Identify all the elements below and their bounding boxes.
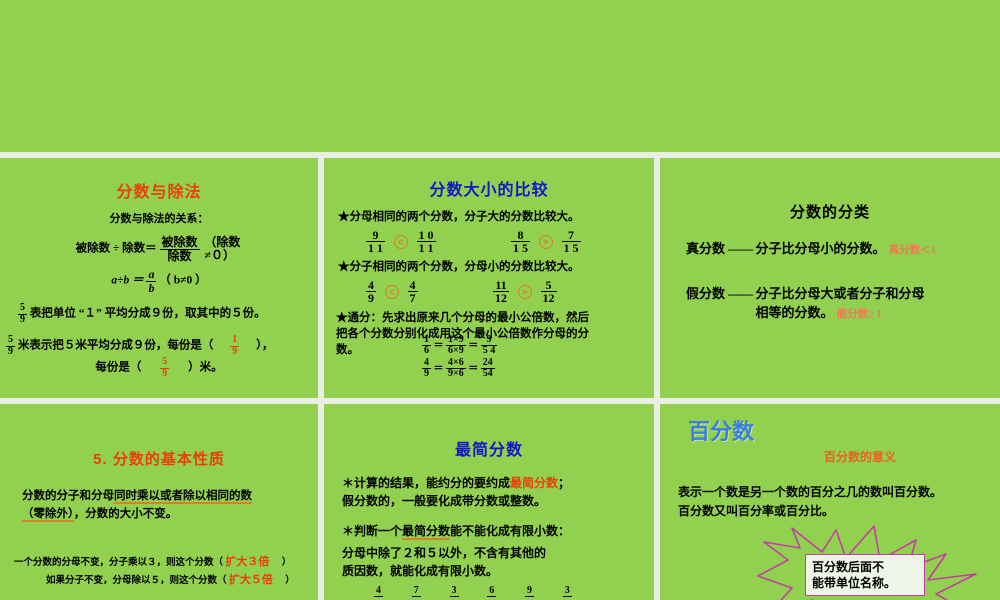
panel2-eq2-a-den: 9 [422,369,431,380]
panel2-r1-f4: 7 1 5 [562,229,581,255]
panel1-line2-red-fraction: 1 9 [230,335,239,357]
panel-compare-fractions: 分数大小的比较 ★分母相同的两个分数，分子大的分数比较大。 9 1 1 < 1 … [324,158,654,398]
panel1-eq-den: 除数 [160,250,200,263]
panel5-b-l1-red: 最简分数 [510,476,558,490]
panel2-eq2-b: 4×6 9×6 [446,358,466,380]
panel3-improper-dash: —— [728,286,752,301]
panel1-line2-den: 9 [6,347,15,358]
panel2-r1-f4-num: 7 [562,229,581,243]
panel1-eq2-num: a [146,268,156,282]
panel3-improper-note: 假分数≥ 1 [837,309,882,320]
panel2-r2-f1: 4 9 [366,279,376,305]
panel3-title: 分数的分类 [660,201,1000,222]
panel4-foot-l2-b: ） [285,576,295,586]
panel4-foot-l1-a: 一个分数的分母不变，分子乘以３，则这个分数（ [14,558,223,568]
starburst-label-line1: 百分数后面不 [812,559,922,575]
panel6-body-line1: 表示一个数是另一个数的百分之几的数叫百分数。 [678,483,1000,502]
panel6-body-line2: 百分数又叫百分率或百分比。 [678,502,1000,521]
panel2-rule-2: ★分子相同的两个分数，分母小的分数比较大。 [324,259,654,276]
panel5-fraction-row: 4 7 3 6 9 3 [324,584,654,600]
panel3-improper-text-line1: 分子比分母大或者分子和分母 [756,285,925,304]
panel3-improper-text-l2: 相等的分数。 [756,305,834,320]
panel2-r2-f4: 5 12 [541,279,557,305]
panel1-line1-fraction: 5 9 [18,303,27,325]
panel2-eq2-c-den: 54 [481,369,495,380]
panel2-eq1-a: 1 6 [422,335,431,357]
panel1-line2-red-den: 9 [230,347,239,358]
panel5-frac-2-num: 7 [412,586,421,598]
panel5-frac-5-num: 9 [525,586,534,598]
slide-top-band [0,0,1000,152]
panel5-c-l1-a: ＊判断一个 [342,524,402,538]
panel5-c-line2: 分母中除了２和５以外，不含有其他的 [342,544,654,562]
panel2-title: 分数大小的比较 [324,176,654,200]
panel2-eq1-c: 9 5 4 [481,335,498,357]
panel5-frac-6-num: 3 [563,586,572,598]
panel1-line2-text-a: 米表示把５米平均分成９份，每份是（ [18,340,214,352]
panel2-r1-f2-den: 1 1 [417,242,436,255]
panel1-line3-text-a: 每份是（ [95,362,141,374]
panel2-r1-f2-num: 1 0 [417,229,436,243]
panel1-line-2: 5 9 米表示把５米平均分成９份，每份是（ 1 9 ）， [0,335,318,357]
panel2-r1-f1-num: 9 [366,229,385,243]
panel5-frac-6: 3 [563,586,572,598]
panel2-r2-f4-num: 5 [541,279,557,293]
panel-percentage: 百分数 百分数的意义 表示一个数是另一个数的百分之几的数叫百分数。 百分数又叫百… [660,404,1000,600]
panel2-eq2-c: 24 54 [481,358,495,380]
panel2-r1-f3-den: 1 5 [511,242,530,255]
panel4-main-l2-underlined: （零除外） [22,508,74,522]
panel1-line3-red-fraction: 5 9 [160,357,169,379]
panel5-b-line1: ＊计算的结果，能约分的要约成最简分数； [342,474,654,492]
panel5-block-2: ＊判断一个最简分数能不能化成有限小数： 分母中除了２和５以外，不含有其他的 质因… [324,522,654,580]
panel1-line1-den: 9 [18,315,27,326]
panel2-r2-f3: 11 12 [493,279,509,305]
slide-canvas: 分数与除法 分数与除法的关系： 被除数 ÷ 除数＝ 被除数 除数 （除数 ≠０）… [0,0,1000,600]
panel1-line2-text-b: ）， [256,340,273,352]
panel5-frac-4: 6 [487,586,496,598]
panel2-r1-f1-den: 1 1 [366,242,385,255]
panel5-frac-5: 9 [525,586,534,598]
panel2-eq2-equals-1: ＝ [434,363,444,374]
panel-basic-property: 5. 分数的基本性质 分数的分子和分母同时乘以或者除以相同的数 （零除外），分数… [0,404,318,600]
panel1-eq-fraction: 被除数 除数 [160,236,200,262]
panel2-conversion-eq-2: 4 9 ＝ 4×6 9×6 ＝ 24 54 [324,358,654,380]
panel2-r1-f2: 1 0 1 1 [417,229,436,255]
panel5-frac-3: 3 [450,586,459,598]
panel1-eq2-left: a÷b ＝ [111,275,143,287]
panel5-frac-2: 7 [412,586,421,598]
panel3-improper-text-line2: 相等的分数。 假分数≥ 1 [756,304,925,323]
panel4-foot-line1: 一个分数的分母不变，分子乘以３，则这个分数（ 扩大３倍 ） [0,554,318,572]
panel-simplest-fraction: 最简分数 ＊计算的结果，能约分的要约成最简分数； 假分数的，一般要化成带分数或整… [324,404,654,600]
panel2-r2-op2: > [518,285,532,299]
panel1-eq-condition: （除数 ≠０） [202,236,242,261]
panel4-foot-line2: 如果分子不变，分母除以５，则这个分数（ 扩大５倍 ） [0,572,318,590]
panel1-eq-left: 被除数 ÷ 除数＝ [76,243,157,255]
panel1-equation-2: a÷b ＝ a b （ b≠0 ） [0,268,318,294]
panel5-c-l1-b: 能不能化成有限小数： [450,524,570,538]
panel2-r2-f2: 4 7 [408,279,418,305]
panel2-eq1-equals-2: ＝ [468,340,478,351]
panel2-eq1-equals-1: ＝ [434,340,444,351]
panel4-foot-l1-red: 扩大３倍 [225,556,269,568]
panel5-frac-3-num: 3 [450,586,459,598]
panel5-frac-1: 4 [374,586,383,598]
panel3-row-proper: 真分数 —— 分子比分母小的分数。 真分数＜1 [660,240,1000,259]
panel6-subtitle: 百分数的意义 [660,448,1000,465]
panel5-c-line3: 质因数，就能化成有限小数。 [342,562,654,580]
panel2-rule3-line1: ★通分：先求出原来几个分母的最小公倍数，然后 [336,310,654,326]
panel1-line-1: 5 9 表把单位 “１” 平均分成９份，取其中的５份。 [0,303,318,325]
panel4-main-line2: （零除外），分数的大小不变。 [22,505,318,523]
panel5-c-l1-underlined: 最简分数 [402,524,450,540]
panel4-foot-l2-a: 如果分子不变，分母除以５，则这个分数（ [46,576,227,586]
panel2-r2-f2-num: 4 [408,279,418,293]
panel2-r1-f4-den: 1 5 [562,242,581,255]
panel2-example-row-2: 4 9 < 4 7 11 12 > 5 12 [324,279,654,305]
panel2-eq1-c-den: 5 4 [481,346,498,357]
panel4-foot-l2-red: 扩大５倍 [229,574,273,586]
panel1-eq2-den: b [146,282,156,295]
panel1-line2-fraction: 5 9 [6,335,15,357]
panel2-eq2-a: 4 9 [422,358,431,380]
panel2-r1-op1: < [394,235,408,249]
panel2-example-row-1: 9 1 1 < 1 0 1 1 8 1 5 > 7 1 5 [324,229,654,255]
panel2-eq2-b-den: 9×6 [446,369,466,380]
panel2-r2-f3-num: 11 [493,279,509,293]
panel1-eq-num: 被除数 [160,236,200,250]
panel1-line3-red-den: 9 [160,369,169,380]
panel2-r1-f3: 8 1 5 [511,229,530,255]
panel2-r2-f1-num: 4 [366,279,376,293]
panel2-r2-f4-den: 12 [541,292,557,305]
panel1-eq2-cond: （ b≠0 ） [159,275,206,287]
panel5-b-l1-a: ＊计算的结果，能约分的要约成 [342,476,510,490]
panel1-eq2-fraction: a b [146,268,156,294]
panel3-row-improper: 假分数 —— 分子比分母大或者分子和分母 相等的分数。 假分数≥ 1 [660,285,1000,323]
panel1-subtitle: 分数与除法的关系： [0,212,318,228]
panel1-title: 分数与除法 [0,178,318,202]
panel4-main-l1-a: 分数的分子和分母 [22,490,114,502]
panel1-line3-text-b: ）米。 [188,362,223,374]
starburst-label-line2: 能带单位名称。 [812,575,922,591]
panel4-foot-l1-b: ） [282,558,292,568]
panel6-title: 百分数 [660,414,1000,446]
panel2-r2-op1: < [385,285,399,299]
panel5-block-1: ＊计算的结果，能约分的要约成最简分数； 假分数的，一般要化成带分数或整数。 [324,474,654,510]
panel6-body: 表示一个数是另一个数的百分之几的数叫百分数。 百分数又叫百分率或百分比。 [660,483,1000,520]
panel5-b-line2: 假分数的，一般要化成带分数或整数。 [342,492,654,510]
starburst-label: 百分数后面不 能带单位名称。 [805,554,925,596]
panel2-r2-f1-den: 9 [366,292,376,305]
panel3-proper-dash: —— [728,241,752,256]
panel5-frac-1-num: 4 [374,586,383,598]
panel3-proper-note: 真分数＜1 [889,245,936,256]
panel1-line1-text: 表把单位 “１” 平均分成９份，取其中的５份。 [30,308,266,320]
panel1-equation-1: 被除数 ÷ 除数＝ 被除数 除数 （除数 ≠０） [0,236,318,262]
panel2-r1-f3-num: 8 [511,229,530,243]
panel5-frac-4-num: 6 [487,586,496,598]
panel5-title: 最简分数 [324,436,654,460]
panel2-eq1-a-den: 6 [422,346,431,357]
panel1-line-3: 每份是（ 5 9 ）米。 [0,357,318,379]
panel-fraction-classification: 分数的分类 真分数 —— 分子比分母小的分数。 真分数＜1 假分数 —— 分子比… [660,158,1000,398]
panel4-main-statement: 分数的分子和分母同时乘以或者除以相同的数 （零除外），分数的大小不变。 [0,487,318,524]
panel2-eq1-b: 1×9 6×9 [446,335,466,357]
panel4-footnotes: 一个分数的分母不变，分子乘以３，则这个分数（ 扩大３倍 ） 如果分子不变，分母除… [0,554,318,589]
panel2-r1-f1: 9 1 1 [366,229,385,255]
panel2-r1-op2: > [539,235,553,249]
panel3-proper-text: 分子比分母小的分数。 [756,241,886,256]
panel2-eq2-equals-2: ＝ [468,363,478,374]
panel1-eq-cond-2: ≠０） [202,249,242,262]
panel3-improper-label: 假分数 [686,286,725,301]
panel4-main-l2-b: ，分数的大小不变。 [74,508,178,520]
panel3-improper-text-block: 分子比分母大或者分子和分母 相等的分数。 假分数≥ 1 [756,285,925,323]
panel-fraction-and-division: 分数与除法 分数与除法的关系： 被除数 ÷ 除数＝ 被除数 除数 （除数 ≠０）… [0,158,318,398]
panel2-eq1-b-den: 6×9 [446,346,466,357]
panel4-main-l1-underlined: 同时乘以或者除以相同的数 [114,490,252,504]
panel5-c-line1: ＊判断一个最简分数能不能化成有限小数： [342,522,654,540]
panel2-rule-1: ★分母相同的两个分数，分子大的分数比较大。 [324,209,654,226]
panel4-title: 5. 分数的基本性质 [0,448,318,469]
panel2-r2-f2-den: 7 [408,292,418,305]
panel5-b-l1-b: ； [558,476,570,490]
panel4-main-line1: 分数的分子和分母同时乘以或者除以相同的数 [22,487,318,505]
panel3-proper-label: 真分数 [686,241,725,256]
panel2-r2-f3-den: 12 [493,292,509,305]
